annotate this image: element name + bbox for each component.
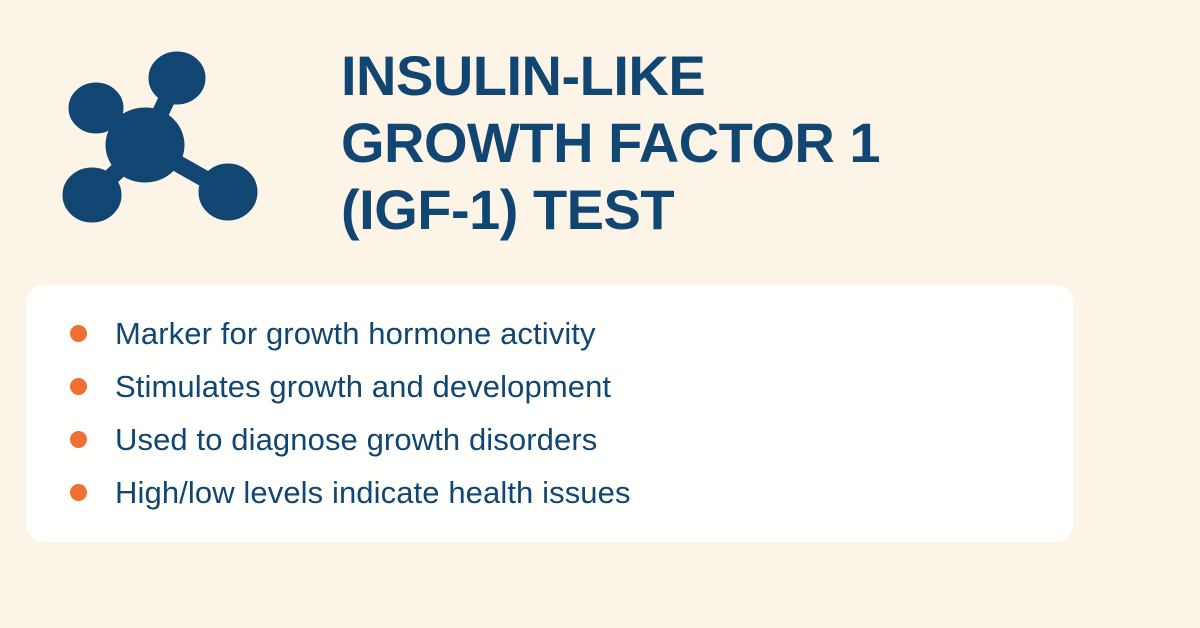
title-line-3: (IGF-1) TEST [341,176,1161,243]
fact-list: Marker for growth hormone activity Stimu… [44,307,1073,519]
list-item: Stimulates growth and development [44,360,1073,413]
fact-text: Used to diagnose growth disorders [115,421,597,459]
list-item: High/low levels indicate health issues [44,466,1073,519]
title-line-1: INSULIN-LIKE [341,42,1161,109]
fact-text: Stimulates growth and development [115,368,611,406]
header-section: INSULIN-LIKE GROWTH FACTOR 1 (IGF-1) TES… [0,0,1200,270]
infographic-poster: INSULIN-LIKE GROWTH FACTOR 1 (IGF-1) TES… [0,0,1200,628]
bullet-dot-icon [70,325,87,342]
fact-card: Marker for growth hormone activity Stimu… [26,285,1073,542]
list-item: Marker for growth hormone activity [44,307,1073,360]
list-item: Used to diagnose growth disorders [44,413,1073,466]
page-title: INSULIN-LIKE GROWTH FACTOR 1 (IGF-1) TES… [341,42,1161,243]
bullet-dot-icon [70,431,87,448]
fact-text: Marker for growth hormone activity [115,315,596,353]
bullet-dot-icon [70,484,87,501]
title-line-2: GROWTH FACTOR 1 [341,109,1161,176]
fact-text: High/low levels indicate health issues [115,474,631,512]
bullet-dot-icon [70,378,87,395]
molecule-icon [52,42,262,242]
